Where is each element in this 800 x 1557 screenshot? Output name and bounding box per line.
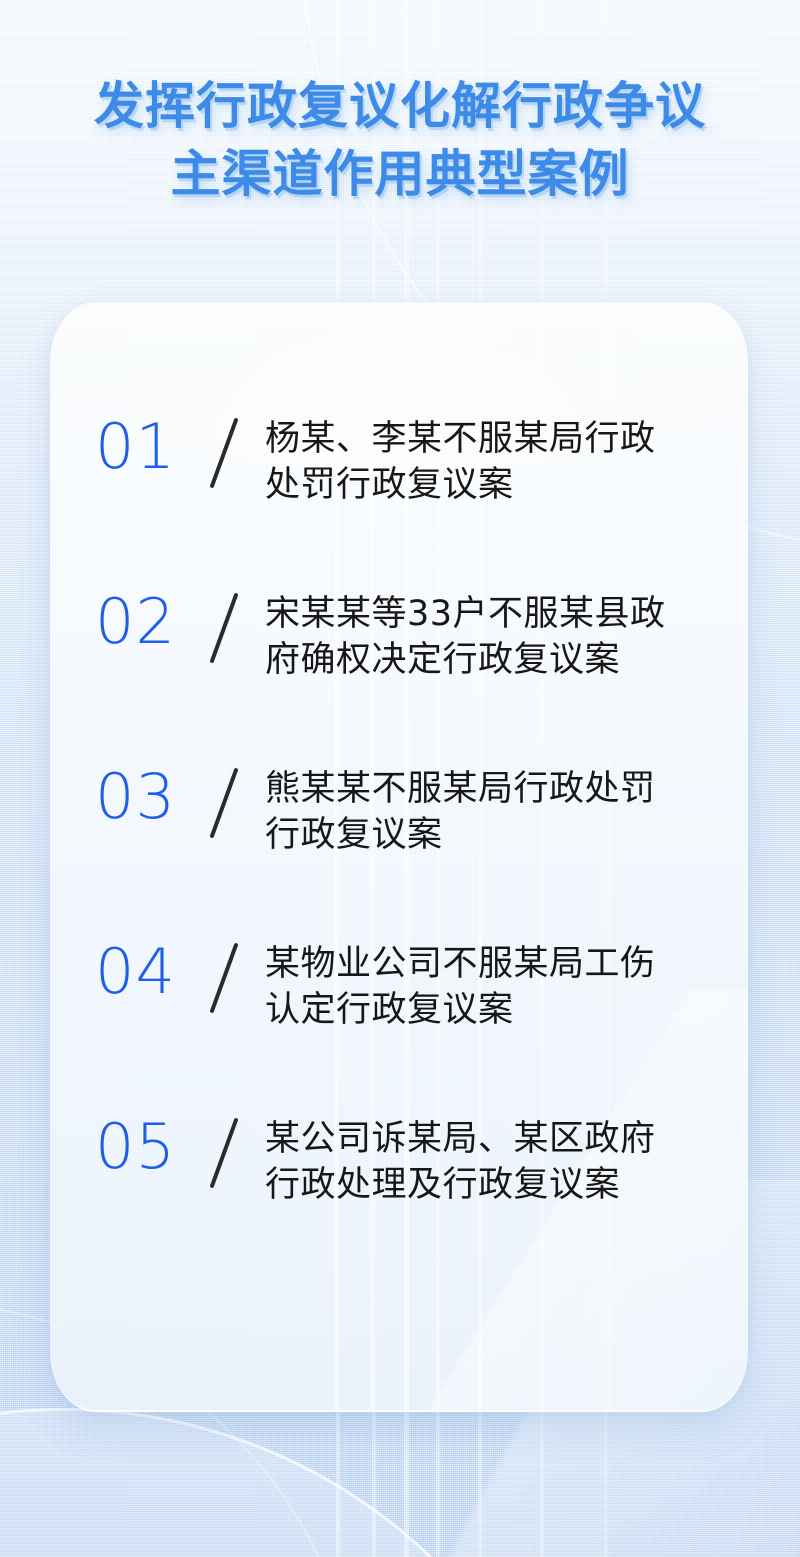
case-index-number: 02: [95, 589, 203, 655]
case-title-line-1: 某物业公司不服某局工伤: [265, 941, 748, 987]
case-title-line-1: 宋某某等33户不服某县政: [265, 591, 748, 637]
case-title: 某公司诉某局、某区政府 行政处理及行政复议案: [249, 1114, 748, 1208]
slash-separator-icon: [203, 939, 249, 1017]
case-title-line-2: 认定行政复议案: [265, 987, 748, 1033]
slash-separator-icon: [203, 764, 249, 842]
list-item[interactable]: 04 某物业公司不服某局工伤 认定行政复议案: [50, 939, 748, 1114]
slash-separator-icon: [203, 414, 249, 492]
poster-root: 发挥行政复议化解行政争议 主渠道作用典型案例 01 杨某、李某不服某局行政 处罚…: [0, 0, 800, 1557]
list-item[interactable]: 03 熊某某不服某局行政处罚 行政复议案: [50, 764, 748, 939]
list-item[interactable]: 05 某公司诉某局、某区政府 行政处理及行政复议案: [50, 1114, 748, 1289]
title-line-1: 发挥行政复议化解行政争议: [0, 72, 800, 140]
case-title: 杨某、李某不服某局行政 处罚行政复议案: [249, 414, 748, 508]
list-item[interactable]: 01 杨某、李某不服某局行政 处罚行政复议案: [50, 414, 748, 589]
case-index-number: 04: [95, 939, 203, 1005]
case-title-line-1: 杨某、李某不服某局行政: [265, 416, 748, 462]
case-title: 熊某某不服某局行政处罚 行政复议案: [249, 764, 748, 858]
case-title-line-2: 处罚行政复议案: [265, 462, 748, 508]
case-list-card: 01 杨某、李某不服某局行政 处罚行政复议案 02 宋某某等33户不服某县政 府…: [50, 302, 748, 1410]
title-line-2: 主渠道作用典型案例: [0, 140, 800, 208]
case-list: 01 杨某、李某不服某局行政 处罚行政复议案 02 宋某某等33户不服某县政 府…: [50, 414, 748, 1289]
list-item[interactable]: 02 宋某某等33户不服某县政 府确权决定行政复议案: [50, 589, 748, 764]
slash-separator-icon: [203, 589, 249, 667]
case-title-line-2: 行政复议案: [265, 812, 748, 858]
case-title-line-1: 熊某某不服某局行政处罚: [265, 766, 748, 812]
case-title-line-2: 行政处理及行政复议案: [265, 1162, 748, 1208]
case-title-line-2: 府确权决定行政复议案: [265, 637, 748, 683]
poster-title: 发挥行政复议化解行政争议 主渠道作用典型案例: [0, 72, 800, 208]
background-arc-decoration: [0, 1408, 596, 1557]
case-index-number: 01: [95, 414, 203, 480]
case-index-number: 05: [95, 1114, 203, 1180]
case-title: 宋某某等33户不服某县政 府确权决定行政复议案: [249, 589, 748, 683]
case-title: 某物业公司不服某局工伤 认定行政复议案: [249, 939, 748, 1033]
case-title-line-1: 某公司诉某局、某区政府: [265, 1116, 748, 1162]
slash-separator-icon: [203, 1114, 249, 1192]
case-index-number: 03: [95, 764, 203, 830]
